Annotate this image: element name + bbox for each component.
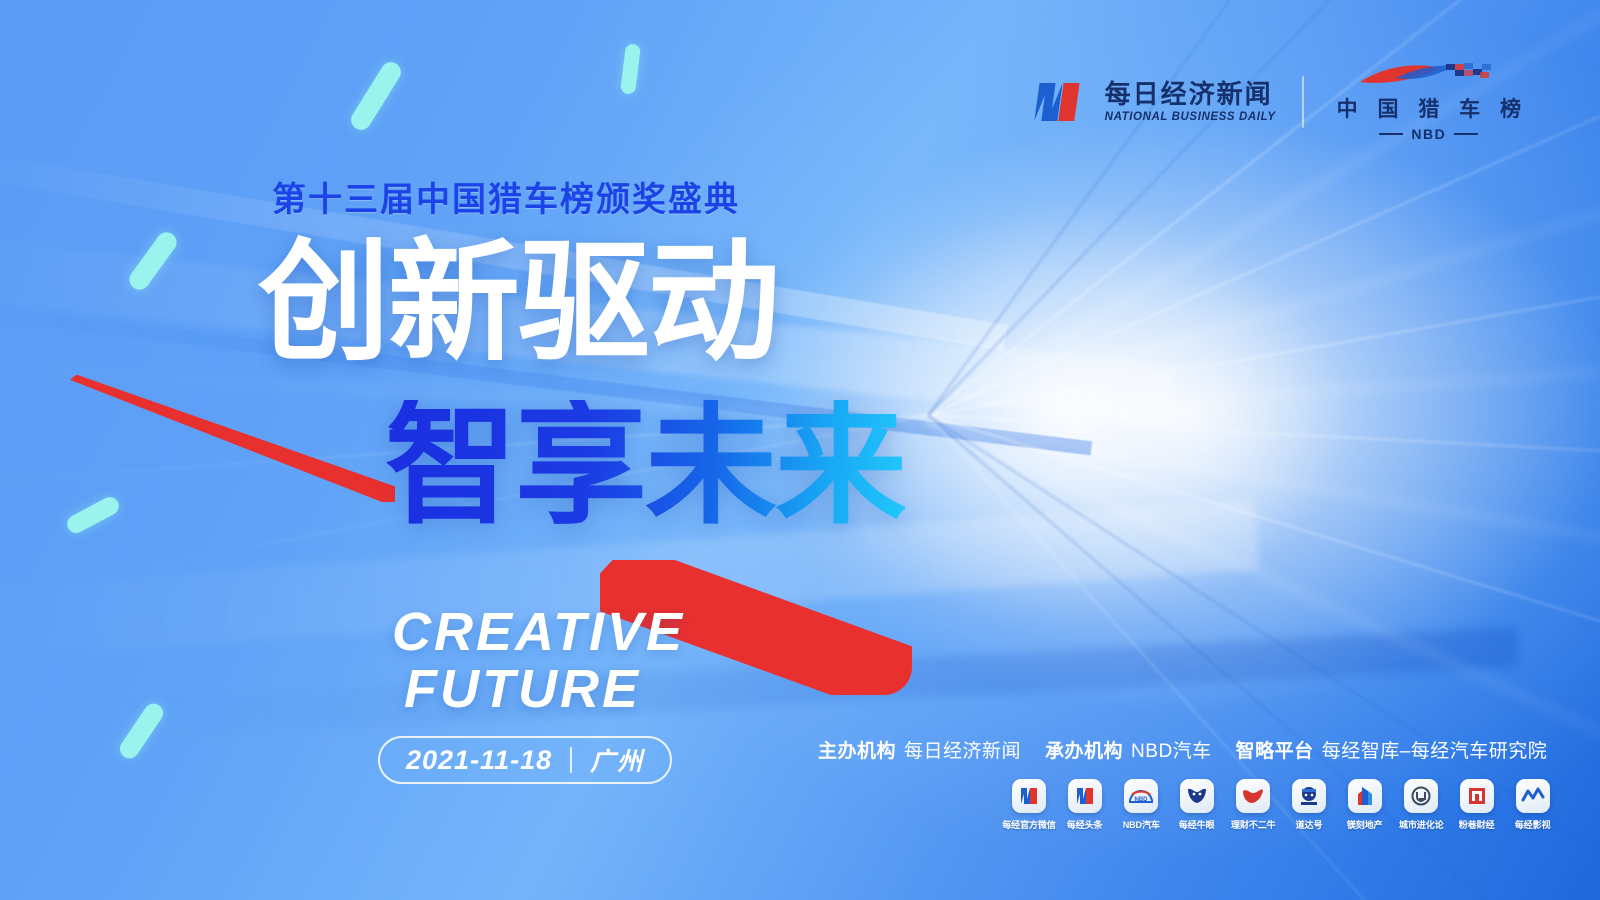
hero-line-2: 智享未来	[385, 400, 905, 532]
logo-bar: 每日经济新闻 NATIONAL BUSINESS DAILY	[1034, 62, 1528, 142]
hero-english-line-2: FUTURE	[404, 661, 685, 718]
app-item[interactable]: 每经官方微信	[1004, 779, 1054, 831]
lieche-logo[interactable]: 中 国 猎 车 榜 NBD	[1330, 62, 1528, 142]
nbd-auto-car-icon: NBD	[1124, 779, 1158, 813]
app-label: 理财不二牛	[1231, 817, 1276, 830]
app-label: 每经影视	[1515, 817, 1551, 830]
pill-separator	[570, 747, 572, 773]
daoda-face-icon	[1292, 779, 1326, 813]
event-city: 广州	[590, 742, 644, 778]
event-subtitle: 第十三届中国猎车榜颁奖盛典	[272, 172, 740, 221]
lieche-logo-cn: 中 国 猎 车 榜	[1330, 93, 1528, 123]
app-item[interactable]: 每经头条	[1060, 779, 1110, 831]
nbd-logo-cn: 每日经济新闻	[1105, 81, 1276, 107]
lieche-rule-left	[1379, 133, 1403, 135]
app-label: 城市进化论	[1399, 817, 1444, 830]
poster-canvas: 每日经济新闻 NATIONAL BUSINESS DAILY	[0, 0, 1600, 900]
nbd-logo[interactable]: 每日经济新闻 NATIONAL BUSINESS DAILY	[1034, 73, 1276, 131]
credit-key-1: 承办机构	[1045, 736, 1123, 763]
wave-icon	[1516, 779, 1550, 813]
app-label: 每经官方微信	[1002, 817, 1056, 830]
app-item[interactable]: 每经牛眼	[1172, 779, 1222, 831]
app-item[interactable]: NBD NBD汽车	[1116, 779, 1166, 831]
lieche-logo-nbd: NBD	[1379, 126, 1478, 142]
credit-key-2: 智略平台	[1236, 736, 1314, 763]
credit-value-1: NBD汽车	[1131, 736, 1212, 763]
lieche-abbr: NBD	[1411, 126, 1446, 142]
app-item[interactable]: 道达号	[1284, 779, 1334, 831]
lieche-rule-right	[1454, 133, 1478, 135]
credit-value-0: 每日经济新闻	[904, 736, 1021, 763]
ue-circle-icon	[1404, 779, 1438, 813]
hero-english: CREATIVE FUTURE	[392, 604, 685, 718]
app-icon-strip: 每经官方微信 每经头条 NBD NBD汽车 每经牛眼	[1004, 779, 1558, 831]
app-label: 粉巷财经	[1459, 817, 1495, 830]
credit-value-2: 每经智库–每经汽车研究院	[1322, 736, 1548, 763]
event-date: 2021-11-18	[406, 745, 552, 776]
nbd-wechat-icon	[1012, 779, 1046, 813]
racing-flag-swoosh-icon	[1354, 62, 1504, 90]
app-item[interactable]: 城市进化论	[1396, 779, 1446, 831]
app-item[interactable]: 镁刻地产	[1340, 779, 1390, 831]
gate-icon	[1460, 779, 1494, 813]
app-label: NBD汽车	[1122, 817, 1159, 830]
credit-key-0: 主办机构	[818, 736, 896, 763]
app-label: 道达号	[1296, 817, 1323, 830]
app-item[interactable]: 粉巷财经	[1452, 779, 1502, 831]
logo-divider	[1302, 76, 1304, 128]
svg-text:NBD: NBD	[1135, 797, 1149, 803]
credits-row: 主办机构 每日经济新闻 承办机构 NBD汽车 智略平台 每经智库–每经汽车研究院	[818, 736, 1563, 763]
app-label: 每经牛眼	[1179, 817, 1215, 830]
hero-line-1: 创新驱动	[258, 237, 778, 369]
red-bull-icon	[1236, 779, 1270, 813]
bull-eye-icon	[1180, 779, 1214, 813]
date-location-pill: 2021-11-18 广州	[378, 736, 672, 784]
app-item[interactable]: 每经影视	[1508, 779, 1558, 831]
building-icon	[1348, 779, 1382, 813]
nbd-logo-en: NATIONAL BUSINESS DAILY	[1105, 112, 1276, 124]
app-label: 每经头条	[1067, 817, 1103, 830]
nbd-n-mark-icon	[1034, 73, 1092, 131]
app-label: 镁刻地产	[1347, 817, 1383, 830]
nbd-toutiao-icon	[1068, 779, 1102, 813]
hero-english-line-1: CREATIVE	[392, 604, 685, 661]
app-item[interactable]: 理财不二牛	[1228, 779, 1278, 831]
